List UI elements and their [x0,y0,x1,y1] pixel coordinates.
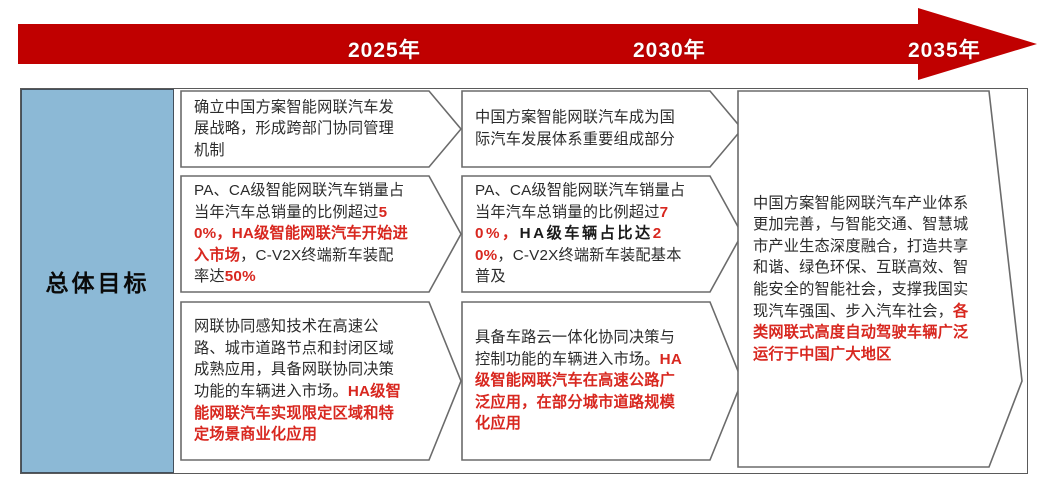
rich-text-block: 中国方案智能网联汽车成为国际汽车发展体系重要组成部分 [475,107,689,150]
chevron-box-2030-technology[interactable]: 具备车路云一体化协同决策与控制功能的车辆进入市场。HA级智能网联汽车在高速公路广… [461,301,743,461]
rich-text-block: 具备车路云一体化协同决策与控制功能的车辆进入市场。HA级智能网联汽车在高速公路广… [475,327,689,435]
chevron-box-2025-sales[interactable]: PA、CA级智能网联汽车销量占当年汽车总销量的比例超过50%，HA级智能网联汽车… [180,175,462,293]
text-run-0: 具备车路云一体化协同决策与控制功能的车辆进入市场。 [475,329,675,368]
rich-text-block: PA、CA级智能网联汽车销量占当年汽车总销量的比例超过70%，HA级车辆占比达2… [475,180,689,288]
timeline-year-2035: 2035年 [908,34,981,64]
chevron-box-2025-technology[interactable]: 网联协同感知技术在高速公路、城市道路节点和封闭区域成熟应用，具备网联协同决策功能… [180,301,462,461]
chevron-box-2035-vision[interactable]: 中国方案智能网联汽车产业体系更加完善，与智能交通、智慧城市产业生态深度融合，打造… [737,90,1023,468]
chevron-text: PA、CA级智能网联汽车销量占当年汽车总销量的比例超过50%，HA级智能网联汽车… [194,175,408,293]
text-run-4: ，C-V2X终端新车装配基本普及 [475,247,682,286]
text-run-0: 中国方案智能网联汽车产业体系更加完善，与智能交通、智慧城市产业生态深度融合，打造… [753,195,968,320]
chevron-text: 网联协同感知技术在高速公路、城市道路节点和封闭区域成熟应用，具备网联协同决策功能… [194,301,408,461]
roadmap-diagram: 2025年 2030年 2035年 总体目标 确立中国方案智能网联汽车发展战略，… [0,0,1047,487]
chevron-text: 具备车路云一体化协同决策与控制功能的车辆进入市场。HA级智能网联汽车在高速公路广… [475,301,689,461]
rich-text-block: PA、CA级智能网联汽车销量占当年汽车总销量的比例超过50%，HA级智能网联汽车… [194,180,408,288]
timeline-arrow-shape [18,4,1040,84]
rich-text-block: 确立中国方案智能网联汽车发展战略，形成跨部门协同管理机制 [194,97,408,162]
timeline-year-2030: 2030年 [633,34,706,64]
text-run-2: HA级车辆占比达 [520,225,653,242]
overall-goal-label: 总体目标 [46,264,150,298]
text-run-0: 确立中国方案智能网联汽车发展战略，形成跨部门协同管理机制 [194,99,394,159]
text-run-0: PA、CA级智能网联汽车销量占当年汽车总销量的比例超过 [475,182,685,221]
chevron-text: 中国方案智能网联汽车产业体系更加完善，与智能交通、智慧城市产业生态深度融合，打造… [753,90,977,468]
column-2025: 确立中国方案智能网联汽车发展战略，形成跨部门协同管理机制 PA、CA级智能网联汽… [180,88,462,476]
text-run-4: 50% [225,268,256,285]
overall-goal-panel: 总体目标 [21,89,174,473]
rich-text-block: 网联协同感知技术在高速公路、城市道路节点和封闭区域成熟应用，具备网联协同决策功能… [194,316,408,445]
chevron-box-2030-sales[interactable]: PA、CA级智能网联汽车销量占当年汽车总销量的比例超过70%，HA级车辆占比达2… [461,175,743,293]
chevron-text: 确立中国方案智能网联汽车发展战略，形成跨部门协同管理机制 [194,90,408,168]
rich-text-block: 中国方案智能网联汽车产业体系更加完善，与智能交通、智慧城市产业生态深度融合，打造… [753,193,977,366]
timeline-arrow-banner: 2025年 2030年 2035年 [18,4,1040,84]
text-run-0: 中国方案智能网联汽车成为国际汽车发展体系重要组成部分 [475,109,675,148]
text-run-0: PA、CA级智能网联汽车销量占当年汽车总销量的比例超过 [194,182,404,221]
chevron-box-2030-international[interactable]: 中国方案智能网联汽车成为国际汽车发展体系重要组成部分 [461,90,743,168]
timeline-year-2025: 2025年 [348,34,421,64]
column-2030: 中国方案智能网联汽车成为国际汽车发展体系重要组成部分 PA、CA级智能网联汽车销… [461,88,743,476]
chevron-text: 中国方案智能网联汽车成为国际汽车发展体系重要组成部分 [475,90,689,168]
column-2035: 中国方案智能网联汽车产业体系更加完善，与智能交通、智慧城市产业生态深度融合，打造… [737,88,1023,476]
chevron-box-2025-strategy[interactable]: 确立中国方案智能网联汽车发展战略，形成跨部门协同管理机制 [180,90,462,168]
chevron-text: PA、CA级智能网联汽车销量占当年汽车总销量的比例超过70%，HA级车辆占比达2… [475,175,689,293]
